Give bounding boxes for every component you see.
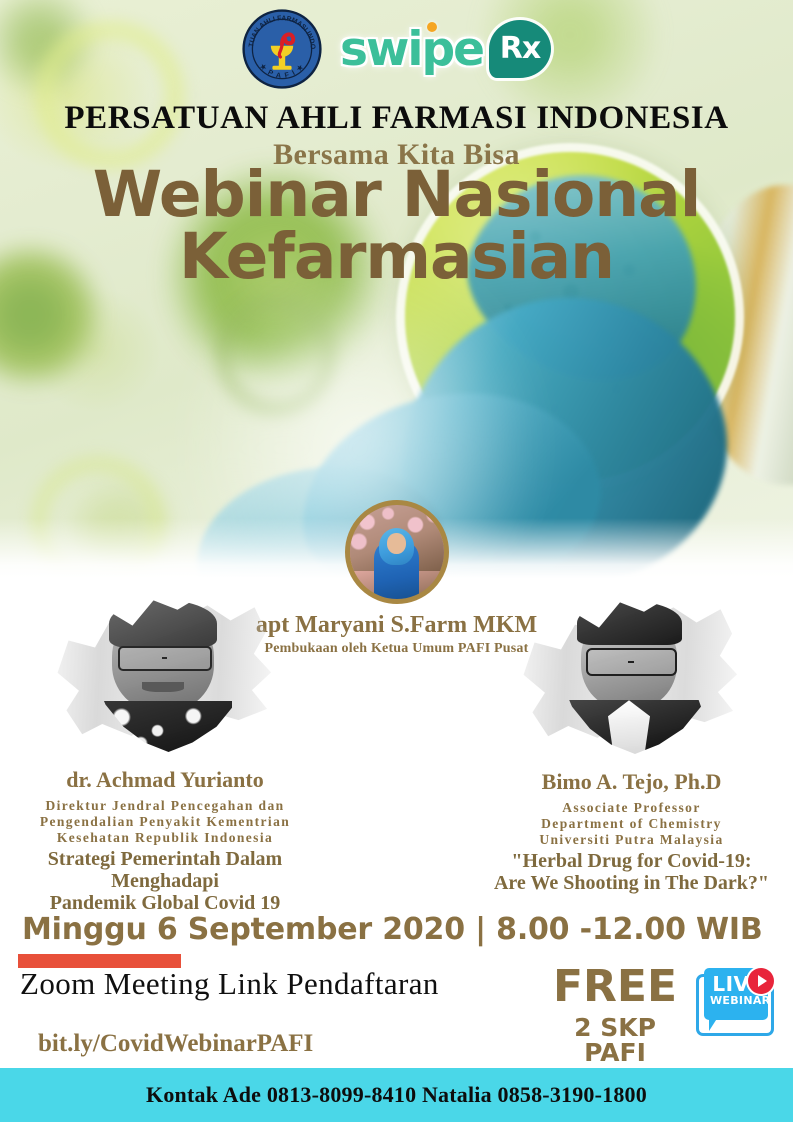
organization-name: PERSATUAN AHLI FARMASI INDONESIA	[0, 100, 793, 137]
schedule-line: Minggu 6 September 2020 | 8.00 -12.00 WI…	[22, 912, 763, 947]
speaker-photo-left	[58, 588, 273, 763]
live-webinar-badge: LIVE WEBINAR	[696, 968, 774, 1046]
speech-bubble-tail-icon	[709, 1017, 724, 1031]
play-triangle-icon	[758, 975, 767, 987]
speaker-topic: Strategi Pemerintah Dalam Menghadapi Pan…	[0, 848, 330, 914]
swipe-dot-icon	[427, 22, 437, 32]
page-title: Webinar Nasional Kefarmasian	[0, 164, 793, 287]
portrait-mask	[88, 594, 238, 752]
title-line-2: Kefarmasian	[0, 226, 793, 288]
rx-label: Rx	[500, 34, 540, 64]
swipe-wordmark-text: swipe	[340, 22, 483, 77]
pafi-logo-icon: PERSATUAN AHLI FARMASI INDONESIA ★ P A F…	[242, 9, 322, 89]
pricing-block: FREE 2 SKP PAFI	[540, 965, 690, 1065]
speaker-photo-right	[524, 590, 739, 765]
speaker-card-left: dr. Achmad Yurianto Direktur Jendral Pen…	[0, 588, 330, 914]
topic-line: Strategi Pemerintah Dalam Menghadapi	[0, 848, 330, 892]
portrait-mask	[554, 596, 704, 754]
webinar-poster: PERSATUAN AHLI FARMASI INDONESIA ★ P A F…	[0, 0, 793, 1122]
portrait-image	[554, 596, 704, 754]
webinar-label: WEBINAR	[710, 995, 766, 1006]
affiliation-line: Associate Professor	[470, 800, 793, 816]
speaker-affiliation: Direktur Jendral Pencegahan dan Pengenda…	[0, 798, 330, 846]
portrait-image	[88, 594, 238, 752]
affiliation-line: Universiti Putra Malaysia	[470, 832, 793, 848]
speaker-name: Bimo A. Tejo, Ph.D	[470, 769, 793, 795]
play-button-icon	[748, 968, 774, 994]
topic-line: "Herbal Drug for Covid-19:	[470, 850, 793, 872]
avatar	[345, 500, 449, 604]
affiliation-line: Kesehatan Republik Indonesia	[0, 830, 330, 846]
topic-line: Pandemik Global Covid 19	[0, 892, 330, 914]
affiliation-line: Department of Chemistry	[470, 816, 793, 832]
free-label: FREE	[540, 965, 690, 1009]
affiliation-line: Pengendalian Penyakit Kementrian	[0, 814, 330, 830]
registration-link[interactable]: bit.ly/CovidWebinarPAFI	[38, 1030, 313, 1058]
affiliation-line: Direktur Jendral Pencegahan dan	[0, 798, 330, 814]
speaker-topic: "Herbal Drug for Covid-19: Are We Shooti…	[470, 850, 793, 894]
speaker-name: dr. Achmad Yurianto	[0, 767, 330, 793]
swiperx-logo: swipe Rx	[340, 20, 551, 78]
topic-line: Are We Shooting in The Dark?"	[470, 872, 793, 894]
contact-info: Kontak Ade 0813-8099-8410 Natalia 0858-3…	[146, 1082, 647, 1108]
registration-label: Zoom Meeting Link Pendaftaran	[20, 966, 439, 1002]
footer-bar: Kontak Ade 0813-8099-8410 Natalia 0858-3…	[0, 1068, 793, 1122]
avatar-face	[387, 533, 406, 554]
speaker-affiliation: Associate Professor Department of Chemis…	[470, 800, 793, 848]
credits-label: 2 SKP PAFI	[540, 1015, 690, 1065]
speaker-card-right: Bimo A. Tejo, Ph.D Associate Professor D…	[470, 590, 793, 894]
logo-row: PERSATUAN AHLI FARMASI INDONESIA ★ P A F…	[0, 6, 793, 92]
rx-speech-bubble-icon: Rx	[489, 20, 551, 78]
swipe-wordmark: swipe	[340, 26, 483, 73]
